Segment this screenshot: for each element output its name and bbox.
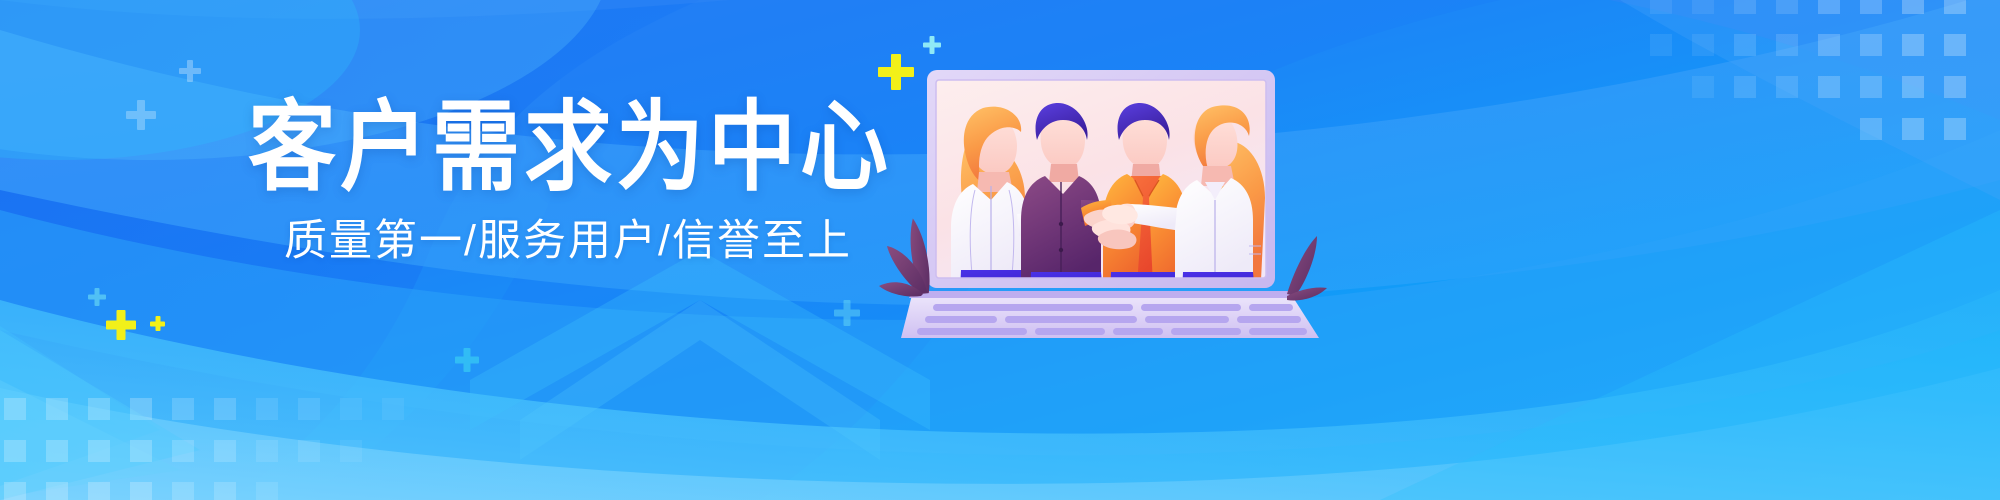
leaf-decoration-right <box>1287 236 1327 301</box>
dot-grid-bottom-left <box>4 398 404 500</box>
cross-icon <box>179 60 201 82</box>
cross-icon <box>455 348 479 372</box>
cross-icon <box>106 310 136 340</box>
promo-banner: 客户需求为中心 质量第一/服务用户/信誉至上 <box>0 0 2000 500</box>
cross-icon <box>923 36 941 54</box>
laptop-screen <box>927 70 1275 320</box>
cross-icon <box>878 54 914 90</box>
banner-subtitle: 质量第一/服务用户/信誉至上 <box>248 220 888 263</box>
dot-grid-top-right <box>1650 0 1966 140</box>
laptop-base <box>901 291 1319 338</box>
banner-text-block: 客户需求为中心 质量第一/服务用户/信誉至上 <box>248 98 888 263</box>
page-title: 客户需求为中心 <box>248 98 888 197</box>
laptop-teamwork-illustration <box>905 48 1325 348</box>
cross-icon <box>126 100 156 130</box>
cross-icon <box>150 316 165 331</box>
cross-icon <box>88 288 106 306</box>
cross-icon <box>834 300 860 326</box>
